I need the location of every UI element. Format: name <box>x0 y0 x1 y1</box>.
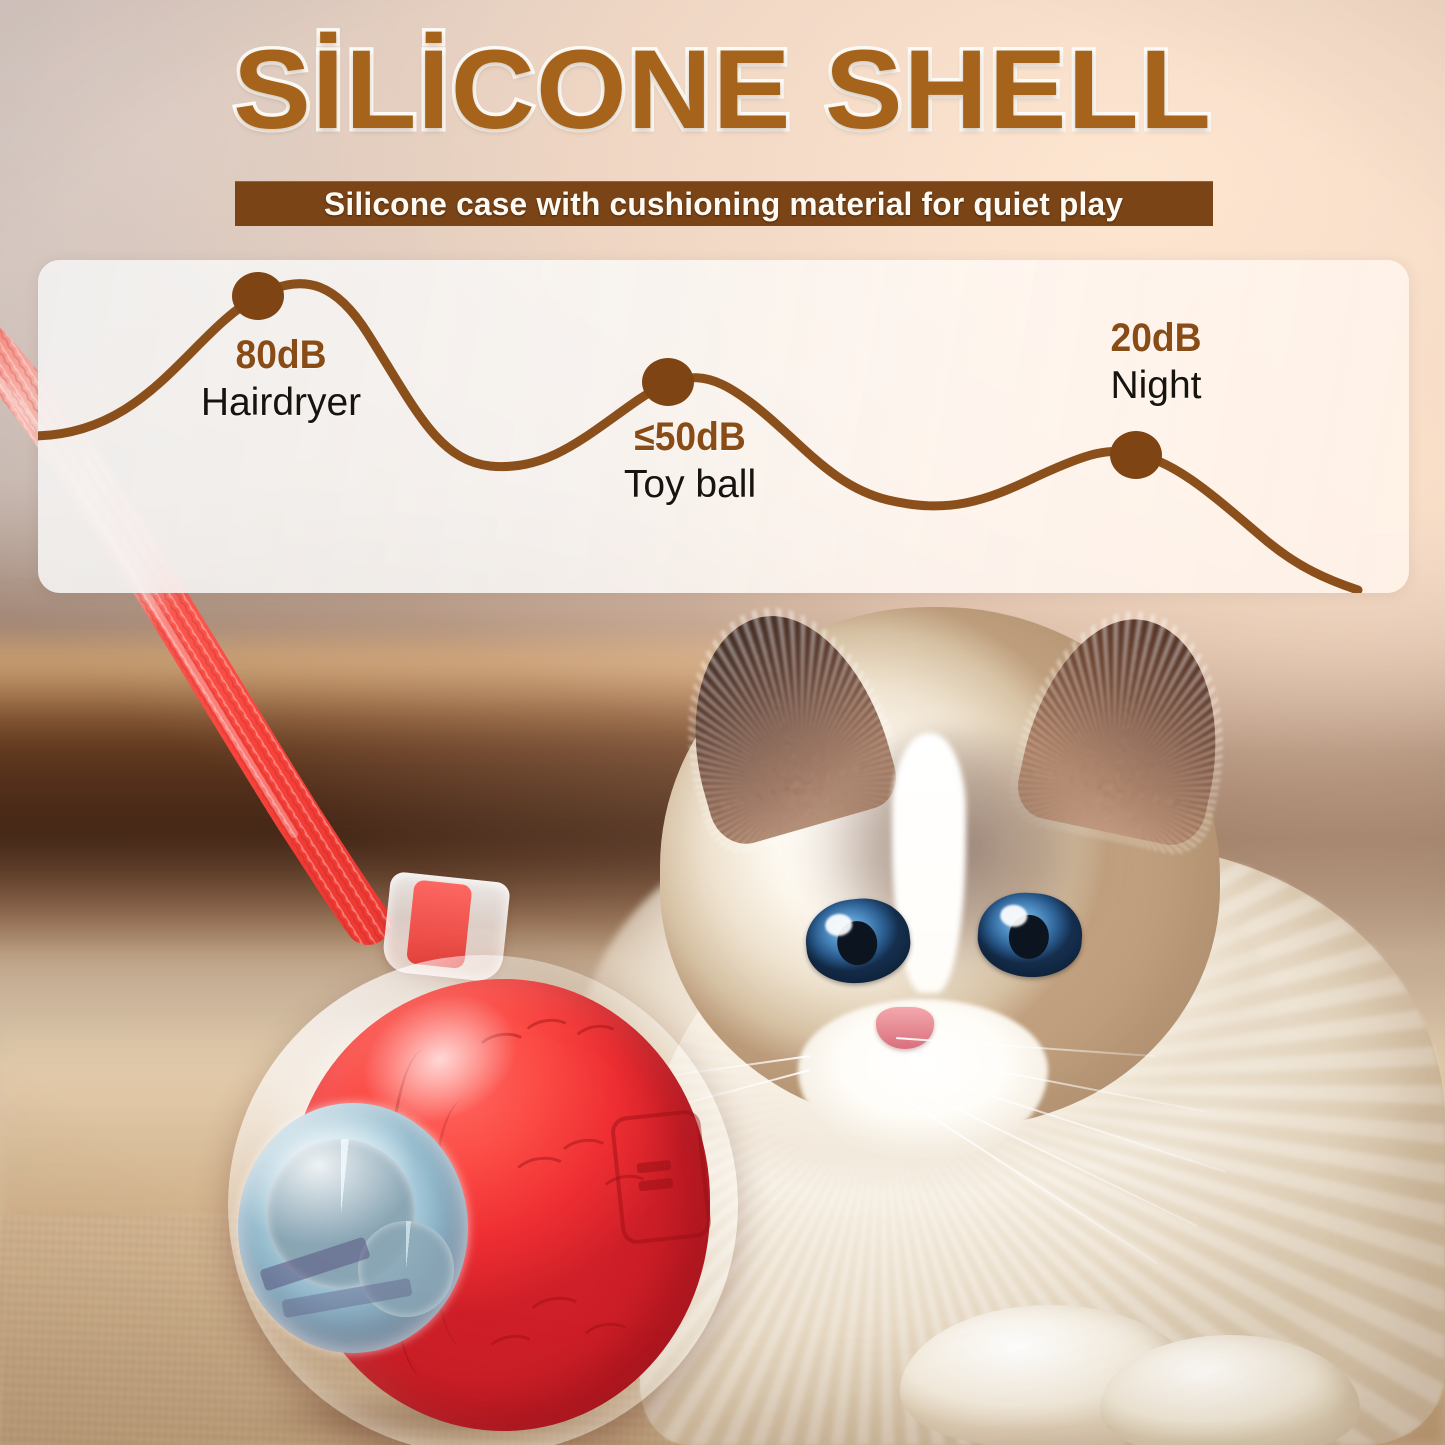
paw-print-texture <box>570 1022 624 1061</box>
paw-print-texture <box>524 1293 589 1339</box>
chart-source-name-night: Night <box>1041 364 1271 408</box>
product-marketing-image: 80dB Hairdryer ≤50dB Toy ball 20dB Night… <box>0 0 1445 1445</box>
page-title: SİLİCONE SHELL <box>0 34 1445 146</box>
chart-label-night: 20dB Night <box>1041 318 1271 408</box>
paw-print-texture <box>578 1319 636 1360</box>
ball-button-icon <box>636 1160 671 1173</box>
cat-head <box>660 607 1220 1127</box>
chart-db-value-hairdryer: 80dB <box>174 335 388 375</box>
noise-comparison-panel: 80dB Hairdryer ≤50dB Toy ball 20dB Night <box>38 260 1409 593</box>
ball-button-icon <box>638 1178 673 1191</box>
subtitle-bar: Silicone case with cushioning material f… <box>235 181 1213 226</box>
paw-print-texture <box>484 1332 540 1371</box>
chart-db-value-night: 20dB <box>1049 318 1263 358</box>
chart-source-name-toyball: Toy ball <box>575 463 805 507</box>
ball-button-recess <box>610 1109 713 1246</box>
chart-label-hairdryer: 80dB Hairdryer <box>166 335 396 425</box>
wave-point-night <box>1110 431 1162 479</box>
chart-db-value-toyball: ≤50dB <box>583 417 797 457</box>
chart-source-name-hairdryer: Hairdryer <box>166 381 396 425</box>
chart-label-toyball: ≤50dB Toy ball <box>575 417 805 507</box>
wave-point-hairdryer <box>232 272 284 320</box>
subtitle-text: Silicone case with cushioning material f… <box>324 186 1123 223</box>
ball-window-glare <box>238 1103 468 1353</box>
ball-internal-window <box>238 1103 468 1353</box>
wave-point-toyball <box>642 358 694 406</box>
cat-toy-ball <box>228 955 738 1445</box>
